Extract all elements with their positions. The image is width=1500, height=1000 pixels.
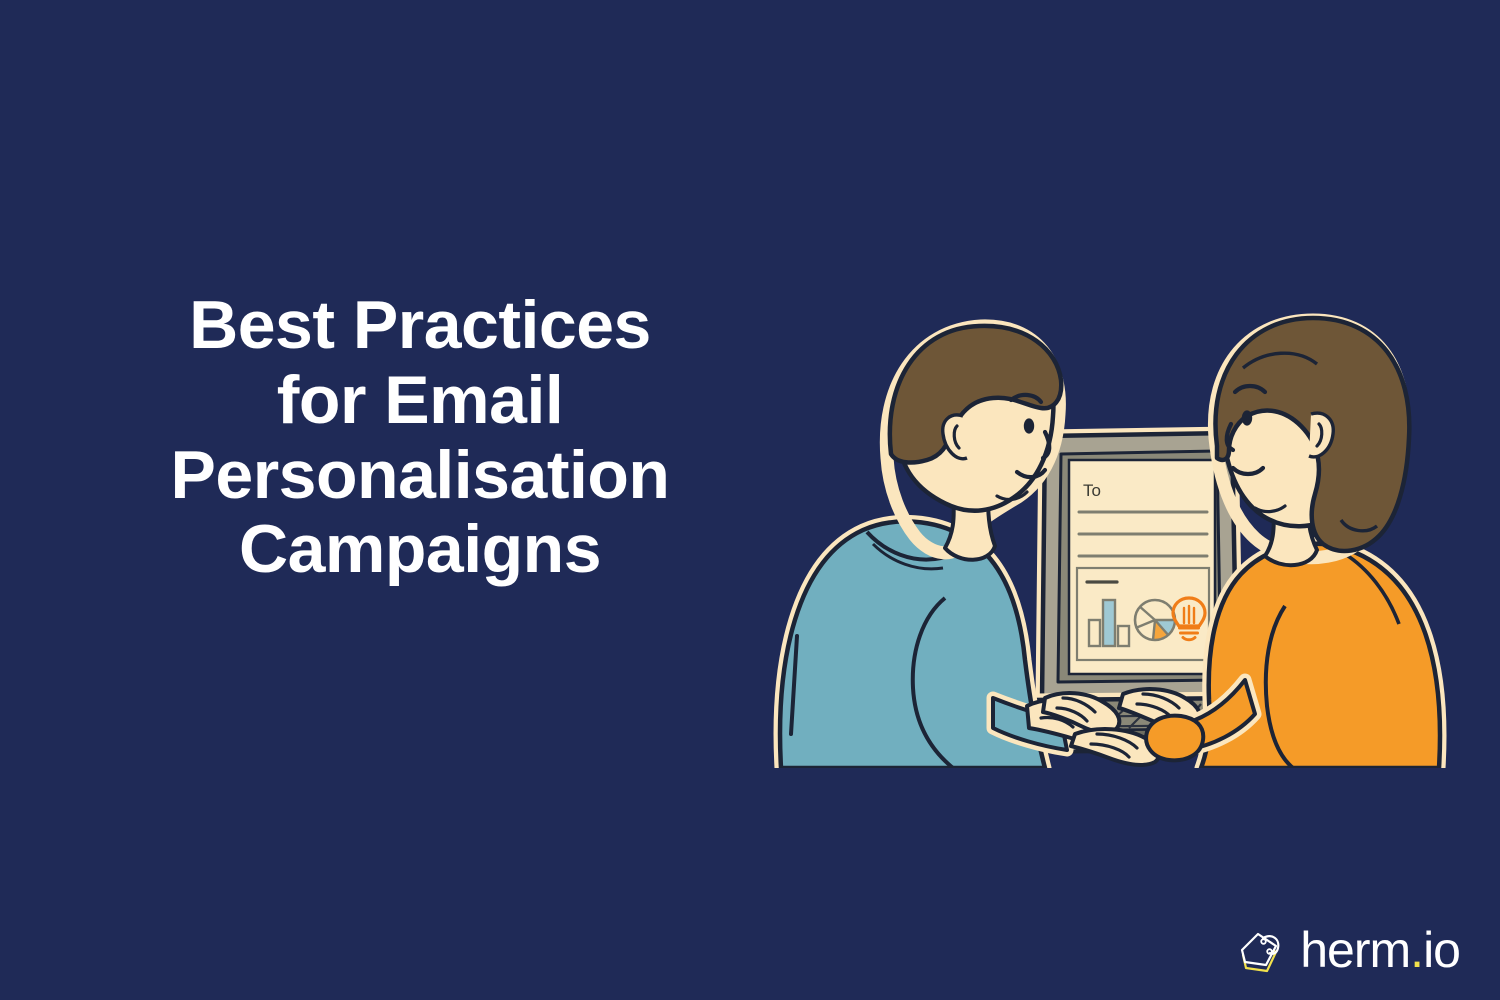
banner-canvas: Best Practices for Email Personalisation… — [0, 0, 1500, 1000]
logo-dot: . — [1410, 922, 1423, 978]
logo-text-after-dot: io — [1423, 922, 1460, 978]
title-line-3: Personalisation — [60, 438, 780, 513]
page-title: Best Practices for Email Personalisation… — [60, 288, 780, 587]
logo-text-before-dot: herm — [1300, 922, 1410, 978]
title-line-1: Best Practices — [60, 288, 780, 363]
title-line-4: Campaigns — [60, 512, 780, 587]
title-line-2: for Email — [60, 363, 780, 438]
screen-to-label: To — [1083, 481, 1101, 500]
logo-wordmark: herm.io — [1300, 925, 1460, 975]
brand-logo[interactable]: herm.io — [1236, 922, 1460, 978]
price-tags-icon — [1236, 922, 1292, 978]
two-people-at-laptop-illustration: .o { fill:none; stroke:#1C2436; stroke-w… — [745, 268, 1470, 768]
